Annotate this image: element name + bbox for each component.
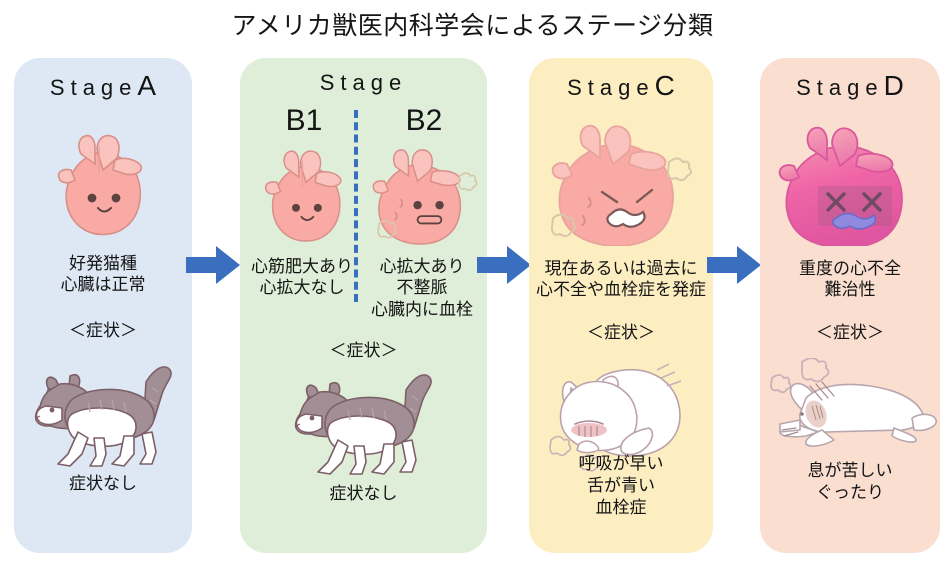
stage-c-heading: StageC	[529, 70, 713, 102]
stage-b1-description: 心筋肥大あり 心拡大なし	[246, 256, 358, 299]
stage-d-description: 重度の心不全 難治性	[760, 258, 940, 301]
stage-b-symptom-tag: ＜症状＞	[240, 336, 487, 361]
happy-heart-icon	[260, 146, 352, 251]
stage-panel-b: Stage B1 B2	[240, 58, 487, 553]
stage-b1-label: B1	[258, 104, 350, 138]
arrow-b-to-c	[477, 245, 531, 285]
stage-d-symptom-tag: ＜症状＞	[760, 318, 940, 343]
stage-a-symptom-tag: ＜症状＞	[14, 316, 192, 341]
collapsed-cat-icon	[766, 358, 938, 473]
stage-a-description: 好発猫種 心臓は正常	[14, 253, 192, 296]
stage-d-letter: D	[884, 70, 904, 101]
stage-panel-c: StageC 現在あるい	[529, 58, 713, 553]
walking-cat-icon	[28, 358, 180, 475]
stage-b-heading: Stage	[240, 70, 487, 96]
stage-d-heading: StageD	[760, 70, 940, 102]
arrow-c-to-d	[707, 245, 761, 285]
stage-panel-a: StageA 好発猫種 心臓は正常 ＜症状＞	[14, 58, 192, 553]
distressed-heart-icon	[545, 120, 697, 251]
stage-a-word: Stage	[50, 75, 138, 100]
stage-panel-d: StageD	[760, 58, 940, 553]
stage-c-symptom-tag: ＜症状＞	[529, 318, 713, 343]
dead-heart-icon	[774, 120, 926, 251]
stage-d-bottom-text: 息が苦しい ぐったり	[760, 460, 940, 504]
stage-b-bottom-text: 症状なし	[240, 483, 487, 505]
walking-cat-icon	[288, 366, 440, 483]
arrow-a-to-b	[186, 245, 240, 285]
worried-heart-icon	[370, 144, 478, 253]
page-title: アメリカ獣医内科学会によるステージ分類	[0, 6, 945, 42]
stage-c-letter: C	[655, 70, 675, 101]
stage-a-heading: StageA	[14, 70, 192, 102]
stage-b2-label: B2	[378, 104, 470, 138]
stage-c-word: Stage	[567, 75, 655, 100]
stage-b-word: Stage	[320, 70, 408, 95]
stage-a-letter: A	[137, 70, 156, 101]
stage-c-description: 現在あるいは過去に 心不全や血栓症を発症	[529, 258, 713, 301]
stage-c-bottom-text: 呼吸が早い 舌が青い 血栓症	[529, 453, 713, 519]
stage-a-bottom-text: 症状なし	[14, 473, 192, 495]
stage-b2-description: 心拡大あり 不整脈 心臓内に血栓	[362, 256, 482, 320]
stage-d-word: Stage	[796, 75, 884, 100]
happy-heart-icon	[53, 130, 153, 245]
